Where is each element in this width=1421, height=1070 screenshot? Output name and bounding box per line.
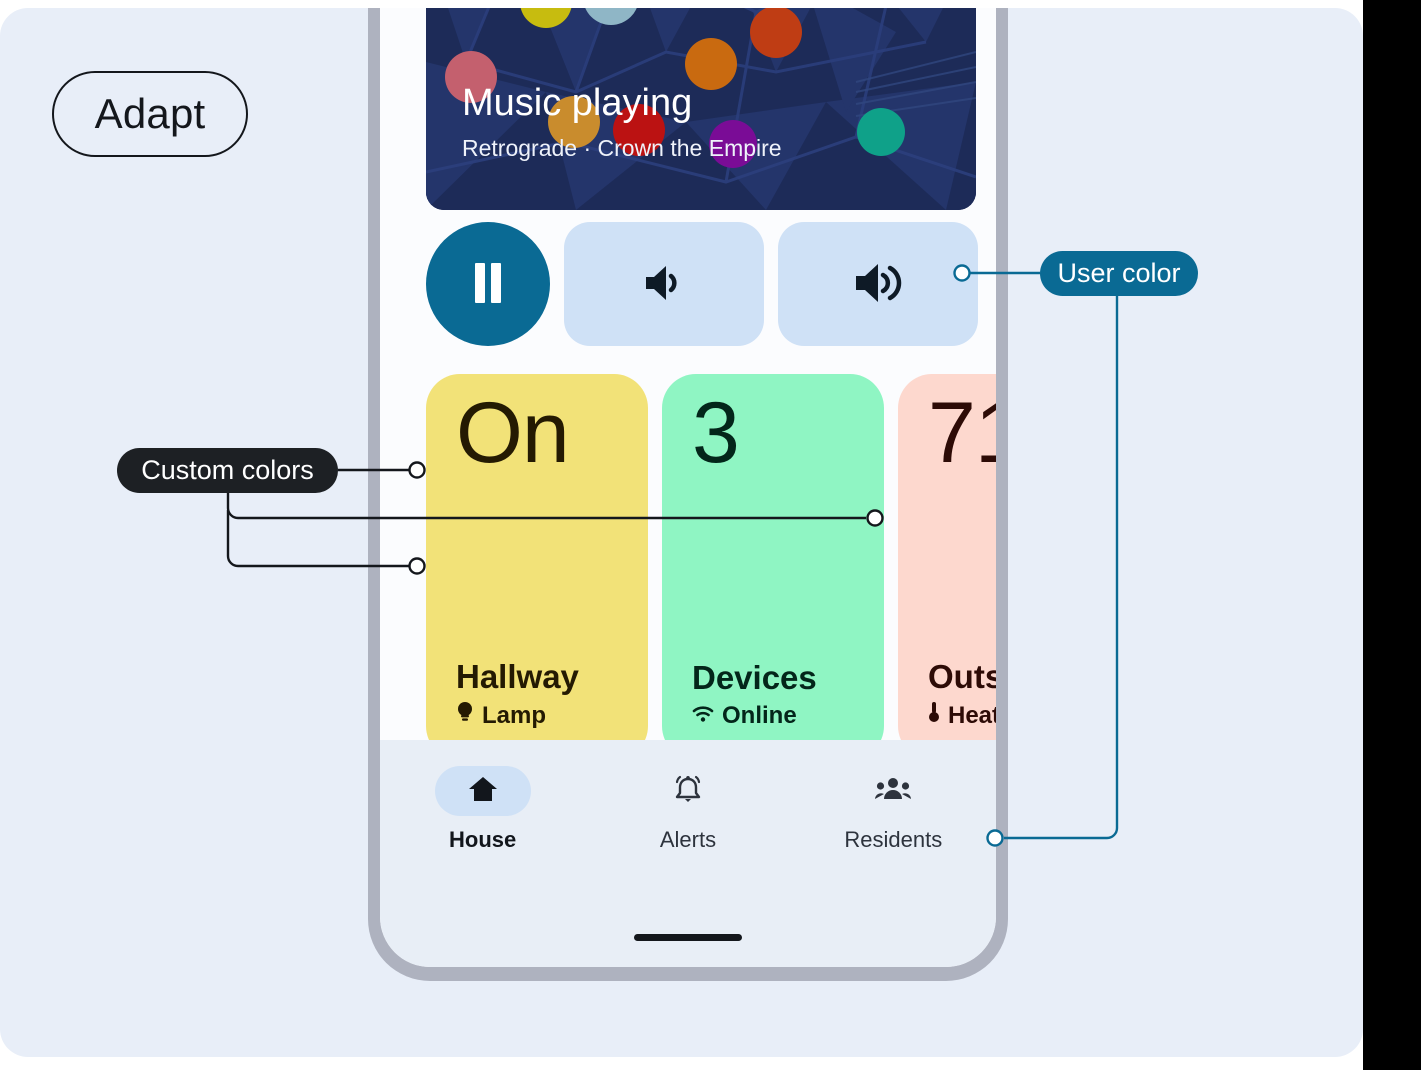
pause-icon [471, 263, 505, 306]
phone-screen: 3 speakers Music playing Retrograde · Cr… [380, 8, 996, 967]
nav-item-house[interactable]: House [380, 766, 585, 853]
bottom-navigation: House [380, 740, 996, 967]
annotation-user-color[interactable]: User color [1040, 251, 1198, 296]
nav-indicator [640, 766, 736, 816]
media-subtitle: Retrograde · Crown the Empire [462, 135, 782, 162]
volume-low-icon [642, 263, 686, 306]
bell-ring-icon [672, 774, 704, 809]
people-icon [875, 777, 911, 806]
volume-down-button[interactable] [564, 222, 764, 346]
media-card[interactable]: 3 speakers Music playing Retrograde · Cr… [426, 8, 976, 210]
volume-high-icon [852, 261, 904, 308]
bottom-nav-items: House [380, 766, 996, 853]
media-controls [426, 222, 978, 346]
tile-hallway[interactable]: On Hallway [426, 374, 648, 760]
adapt-badge-label: Adapt [95, 90, 206, 138]
phone-frame: 3 speakers Music playing Retrograde · Cr… [368, 8, 1008, 981]
nav-label: Alerts [660, 827, 716, 853]
pause-button[interactable] [426, 222, 550, 346]
tile-status: Online [692, 702, 854, 730]
nav-item-residents[interactable]: Residents [791, 766, 996, 853]
app-screen: 3 speakers Music playing Retrograde · Cr… [380, 8, 996, 967]
tile-name: Outside [928, 658, 996, 696]
tile-name: Devices [692, 659, 854, 697]
tile-status: Heating [928, 701, 996, 730]
annotation-label: Custom colors [141, 455, 314, 486]
adapt-badge: Adapt [52, 71, 248, 157]
status-tiles: On Hallway [426, 374, 996, 760]
lightbulb-icon [456, 701, 474, 730]
tile-status-label: Online [722, 702, 797, 730]
tile-devices[interactable]: 3 Devices [662, 374, 884, 760]
tile-value: 71 [928, 390, 996, 476]
volume-up-button[interactable] [778, 222, 978, 346]
nav-label: Residents [844, 827, 942, 853]
tile-outside[interactable]: 71 Outside [898, 374, 996, 760]
annotation-custom-colors[interactable]: Custom colors [117, 448, 338, 493]
tile-footer: Hallway Lamp [456, 658, 618, 730]
tile-status: Lamp [456, 701, 618, 730]
wifi-icon [692, 702, 714, 730]
home-icon [468, 775, 498, 808]
nav-item-alerts[interactable]: Alerts [585, 766, 790, 853]
nav-indicator [845, 766, 941, 816]
tile-footer: Devices Online [692, 659, 854, 730]
tile-name: Hallway [456, 658, 618, 696]
tile-value: 3 [692, 390, 854, 476]
tile-status-label: Heating [948, 702, 996, 730]
screenshot-stage: Adapt [0, 0, 1421, 1070]
media-title: Music playing [462, 84, 692, 124]
illustration-canvas: Adapt [0, 8, 1363, 1057]
thermometer-icon [928, 701, 940, 730]
tile-footer: Outside Heating [928, 658, 996, 730]
tile-value: On [456, 390, 618, 476]
tile-status-label: Lamp [482, 702, 546, 730]
home-indicator [634, 934, 742, 941]
right-gutter [1363, 0, 1421, 1070]
nav-label: House [449, 827, 516, 853]
annotation-label: User color [1057, 258, 1180, 289]
nav-indicator [435, 766, 531, 816]
